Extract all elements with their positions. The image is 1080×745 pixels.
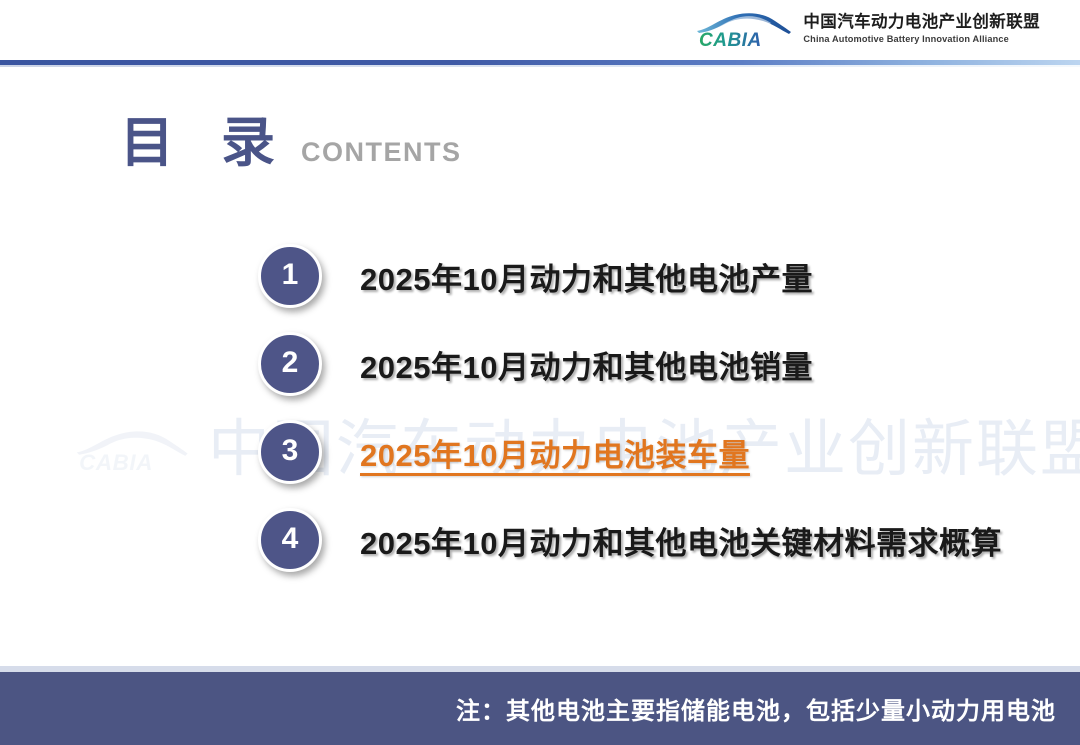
list-item[interactable]: 1 2025年10月动力和其他电池产量 <box>0 232 1080 320</box>
page-title-cn: 目 录 <box>120 116 291 170</box>
item-number: 4 <box>282 524 299 554</box>
item-number-badge: 1 <box>258 244 322 308</box>
svg-text:CABIA: CABIA <box>699 30 762 51</box>
slide-canvas: CABIA 中国汽车动力电池产业创新联盟 China Automotive Ba… <box>0 0 1080 745</box>
slide-header: CABIA 中国汽车动力电池产业创新联盟 China Automotive Ba… <box>0 0 1080 62</box>
alliance-names: 中国汽车动力电池产业创新联盟 China Automotive Battery … <box>803 14 1040 44</box>
item-number: 3 <box>282 436 299 466</box>
list-item[interactable]: 4 2025年10月动力和其他电池关键材料需求概算 <box>0 496 1080 584</box>
contents-item-label-4[interactable]: 2025年10月动力和其他电池关键材料需求概算 <box>360 518 1002 563</box>
item-number-badge: 4 <box>258 508 322 572</box>
header-brand: CABIA 中国汽车动力电池产业创新联盟 China Automotive Ba… <box>693 7 1040 51</box>
page-title: 目 录 CONTENTS <box>120 116 462 170</box>
footer-note-text: 注：其他电池主要指储能电池，包括少量小动力用电池 <box>456 691 1056 726</box>
alliance-name-en: China Automotive Battery Innovation Alli… <box>803 35 1040 44</box>
list-item[interactable]: 3 2025年10月动力电池装车量 <box>0 408 1080 496</box>
header-divider-shadow <box>0 65 1080 67</box>
contents-item-label-3[interactable]: 2025年10月动力电池装车量 <box>360 430 750 475</box>
alliance-name-cn: 中国汽车动力电池产业创新联盟 <box>803 14 1040 31</box>
cabia-car-logo-icon: CABIA <box>693 7 793 51</box>
item-number: 1 <box>282 260 299 290</box>
footer-bar: 注：其他电池主要指储能电池，包括少量小动力用电池 <box>0 672 1080 745</box>
contents-list: 1 2025年10月动力和其他电池产量 2 2025年10月动力和其他电池销量 … <box>0 232 1080 584</box>
page-title-en: CONTENTS <box>301 139 462 166</box>
contents-item-label-1[interactable]: 2025年10月动力和其他电池产量 <box>360 254 813 299</box>
item-number-badge: 2 <box>258 332 322 396</box>
item-number-badge: 3 <box>258 420 322 484</box>
contents-item-label-2[interactable]: 2025年10月动力和其他电池销量 <box>360 342 813 387</box>
item-number: 2 <box>282 348 299 378</box>
list-item[interactable]: 2 2025年10月动力和其他电池销量 <box>0 320 1080 408</box>
